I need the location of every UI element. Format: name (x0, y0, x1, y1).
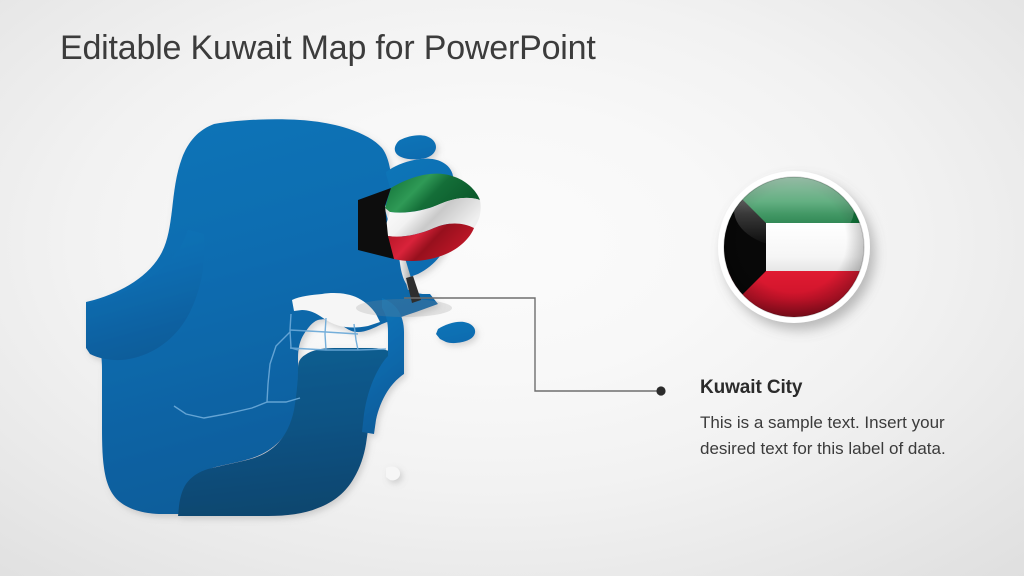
kuwait-flag-badge-svg[interactable] (710, 165, 880, 335)
callout-connector (380, 280, 680, 410)
callout-line (404, 298, 658, 391)
map-island-warbah[interactable] (395, 135, 436, 159)
map-coast-notch (386, 467, 400, 481)
slide-canvas: Editable Kuwait Map for PowerPoint (0, 0, 1024, 576)
callout-label-block: Kuwait City This is a sample text. Inser… (700, 378, 955, 462)
callout-endpoint-dot[interactable] (656, 386, 665, 395)
callout-connector-svg (380, 280, 680, 410)
page-title: Editable Kuwait Map for PowerPoint (60, 29, 596, 68)
callout-label-heading: Kuwait City (700, 378, 955, 399)
border-line-2 (325, 318, 326, 350)
callout-label-body: This is a sample text. Insert your desir… (700, 410, 955, 462)
kuwait-flag-badge[interactable] (710, 165, 880, 335)
badge-gloss (734, 172, 854, 248)
